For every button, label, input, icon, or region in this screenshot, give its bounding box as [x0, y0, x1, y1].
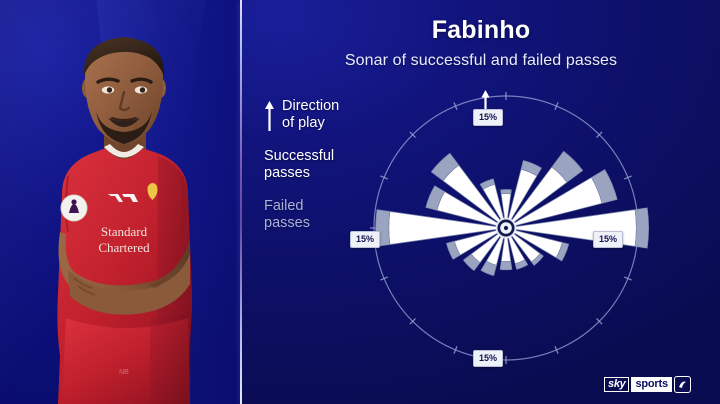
player-portrait-image: Standard Chartered NB — [38, 26, 213, 404]
sky-roundel-icon — [674, 376, 691, 393]
svg-text:Chartered: Chartered — [98, 240, 150, 255]
logo-sky-text: sky — [604, 377, 629, 392]
axis-label-left: 15% — [350, 231, 380, 248]
axis-label-bottom: 15% — [473, 350, 503, 367]
sonar-panel: Fabinho Sonar of successful and failed p… — [242, 0, 720, 404]
legend-direction-line1: Direction — [282, 98, 339, 115]
svg-text:Standard: Standard — [101, 224, 148, 239]
legend-direction-line2: of play — [282, 115, 339, 132]
screenshot-stage: Standard Chartered NB Fabinho Sonar of s… — [0, 0, 720, 404]
sky-sports-logo: sky sports — [604, 376, 691, 393]
player-photo-panel: Standard Chartered NB — [0, 0, 241, 404]
up-arrow-icon — [264, 100, 275, 132]
logo-sports-text: sports — [631, 377, 671, 392]
pass-sonar-chart — [362, 84, 650, 372]
sonar-svg — [362, 84, 650, 372]
svg-text:NB: NB — [119, 369, 129, 376]
axis-label-right: 15% — [593, 231, 623, 248]
direction-of-play-arrow-icon — [481, 90, 490, 109]
page-title: Fabinho — [242, 16, 720, 45]
page-subtitle: Sonar of successful and failed passes — [242, 52, 720, 70]
axis-label-top: 15% — [473, 109, 503, 126]
